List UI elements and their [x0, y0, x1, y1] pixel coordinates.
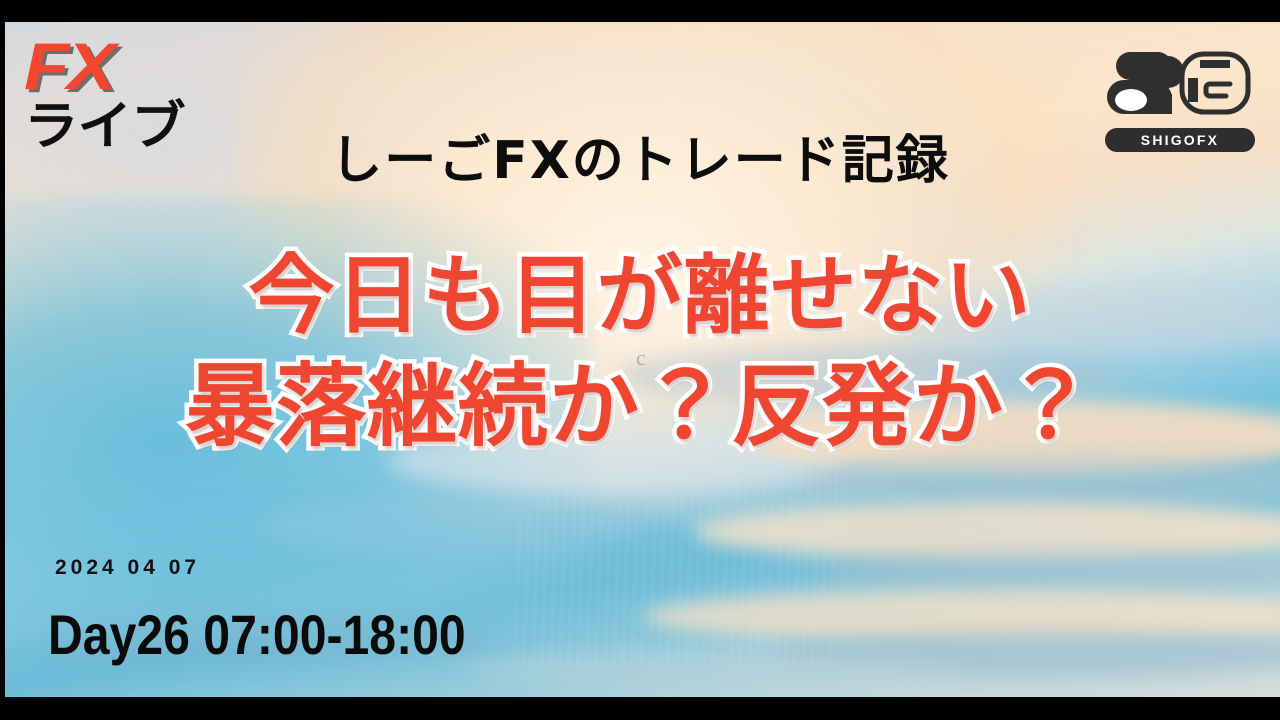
- fx-logo-text: FX: [24, 36, 237, 97]
- center-watermark: c: [636, 345, 646, 371]
- letterbox-top: [0, 0, 1280, 22]
- subtitle-text: しーごFXのトレード記録: [0, 118, 1280, 193]
- thumbnail-canvas: FX ライブ SHIGOFX しーごFXのトレード記録 今日も目が離せない 暴落…: [0, 0, 1280, 720]
- headline-line-1: 今日も目が離せない: [0, 242, 1280, 350]
- sg-monogram-icon: [1104, 38, 1256, 126]
- letterbox-bottom: [0, 697, 1280, 720]
- date-label: 2024 04 07: [55, 556, 200, 580]
- session-label: Day26 07:00-18:00: [48, 602, 466, 667]
